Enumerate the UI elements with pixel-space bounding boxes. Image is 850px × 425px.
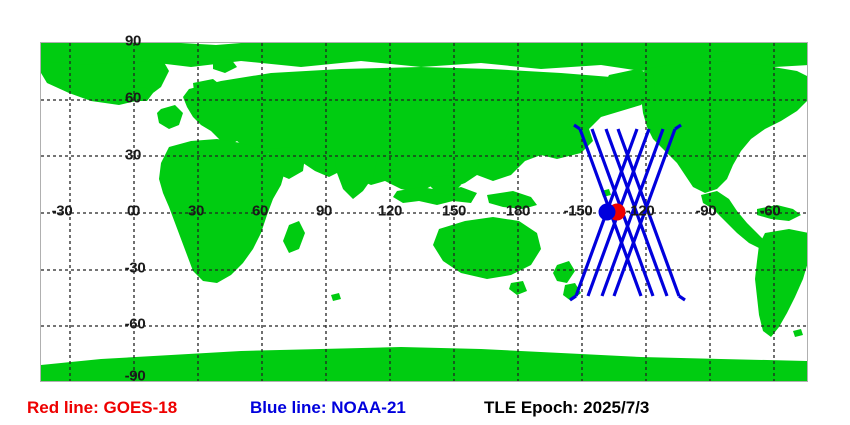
legend: Red line: GOES-18 Blue line: NOAA-21 TLE… <box>0 392 850 425</box>
world-map <box>40 42 808 382</box>
lat-tick-60: 60 <box>125 91 141 106</box>
legend-red-line-goes18: Red line: GOES-18 <box>27 399 177 416</box>
map-canvas <box>41 43 808 382</box>
legend-tle-epoch: TLE Epoch: 2025/7/3 <box>484 399 649 416</box>
lon-tick-neg120: -120 <box>626 204 655 219</box>
lon-tick-30: 30 <box>188 204 204 219</box>
noaa21-position-marker[interactable] <box>599 204 616 221</box>
lon-tick-0: 0 <box>132 204 140 219</box>
lat-tick-neg60: -60 <box>125 317 146 332</box>
lon-tick-90: 90 <box>316 204 332 219</box>
lat-tick-90: 90 <box>125 34 141 49</box>
lon-tick-60: 60 <box>252 204 268 219</box>
lon-tick-neg150: -150 <box>564 204 593 219</box>
lon-tick-neg30: -30 <box>52 204 73 219</box>
lon-tick-120: 120 <box>378 204 402 219</box>
lat-tick-neg90: -90 <box>125 369 146 384</box>
lon-tick-neg90: -90 <box>696 204 717 219</box>
legend-blue-line-noaa21: Blue line: NOAA-21 <box>250 399 406 416</box>
lat-tick-neg30: -30 <box>125 261 146 276</box>
lon-tick-neg60: -60 <box>760 204 781 219</box>
satellite-ground-track-map: 90 60 30 0 -30 -60 -90 -30 0 30 60 90 12… <box>0 0 850 425</box>
lat-tick-30: 30 <box>125 148 141 163</box>
lon-tick-150: 150 <box>442 204 466 219</box>
lon-tick-180: 180 <box>506 204 530 219</box>
